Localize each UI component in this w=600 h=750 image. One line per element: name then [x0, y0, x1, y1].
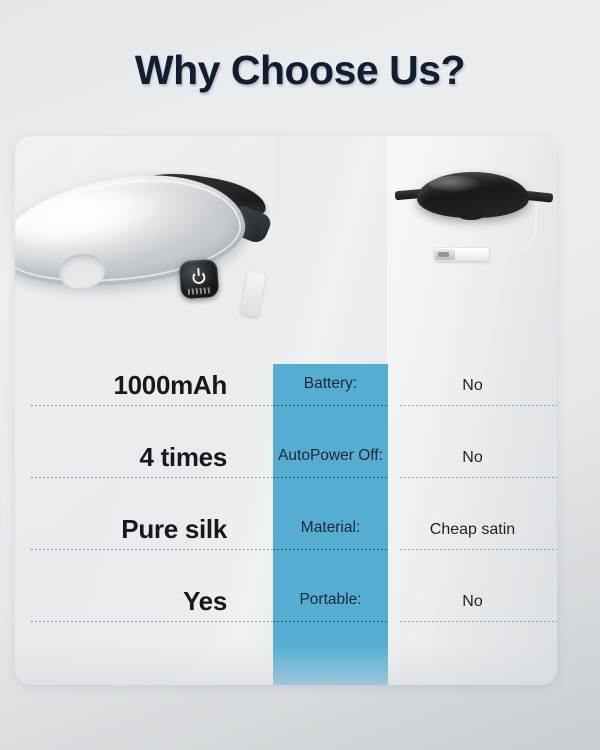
row-divider-right — [400, 549, 557, 550]
row-divider-center — [273, 621, 388, 622]
comparison-card: 1000mAh Battery: No 4 times Auto Power O… — [15, 136, 557, 685]
comparison-table: 1000mAh Battery: No 4 times Auto Power O… — [15, 364, 557, 685]
row-divider-right — [400, 621, 557, 622]
page-title: Why Choose Us? — [0, 47, 600, 94]
competitor-value: Cheap satin — [388, 508, 557, 580]
our-product-image — [15, 154, 267, 294]
our-value: 1000mAh — [15, 364, 273, 436]
attribute-label: Material: — [273, 508, 388, 580]
attribute-label: Battery: — [273, 364, 388, 436]
table-row: 4 times Auto Power Off: No — [15, 436, 557, 508]
usb-connector-icon — [435, 249, 455, 260]
power-symbol-stem — [197, 268, 200, 276]
competitor-value: No — [388, 364, 557, 436]
table-row: Pure silk Material: Cheap satin — [15, 508, 557, 580]
row-divider-left — [31, 405, 273, 406]
table-row: Yes Portable: No — [15, 580, 557, 652]
competitor-product-image — [395, 162, 557, 282]
competitor-value: No — [388, 580, 557, 652]
row-divider-right — [400, 477, 557, 478]
row-divider-center — [273, 477, 388, 478]
our-value: Pure silk — [15, 508, 273, 580]
row-divider-right — [400, 405, 557, 406]
power-button-icon — [179, 259, 220, 300]
attribute-label: Auto Power Off: — [273, 436, 388, 508]
our-value: 4 times — [15, 436, 273, 508]
table-row: 1000mAh Battery: No — [15, 364, 557, 436]
attribute-label-line1: Auto — [278, 447, 310, 465]
attribute-label: Portable: — [273, 580, 388, 652]
row-divider-center — [273, 549, 388, 550]
our-value: Yes — [15, 580, 273, 652]
power-button-text — [188, 287, 212, 295]
competitor-value: No — [388, 436, 557, 508]
row-divider-center — [273, 405, 388, 406]
brand-tag-icon — [240, 271, 265, 317]
usb-cable-icon — [478, 201, 538, 255]
black-mask-highlight — [429, 176, 481, 192]
row-divider-left — [31, 477, 273, 478]
attribute-label-line2: Power Off: — [310, 447, 383, 465]
card-bottom-shading — [15, 645, 557, 685]
row-divider-left — [31, 549, 273, 550]
row-divider-left — [31, 621, 273, 622]
product-images-row — [15, 136, 557, 364]
